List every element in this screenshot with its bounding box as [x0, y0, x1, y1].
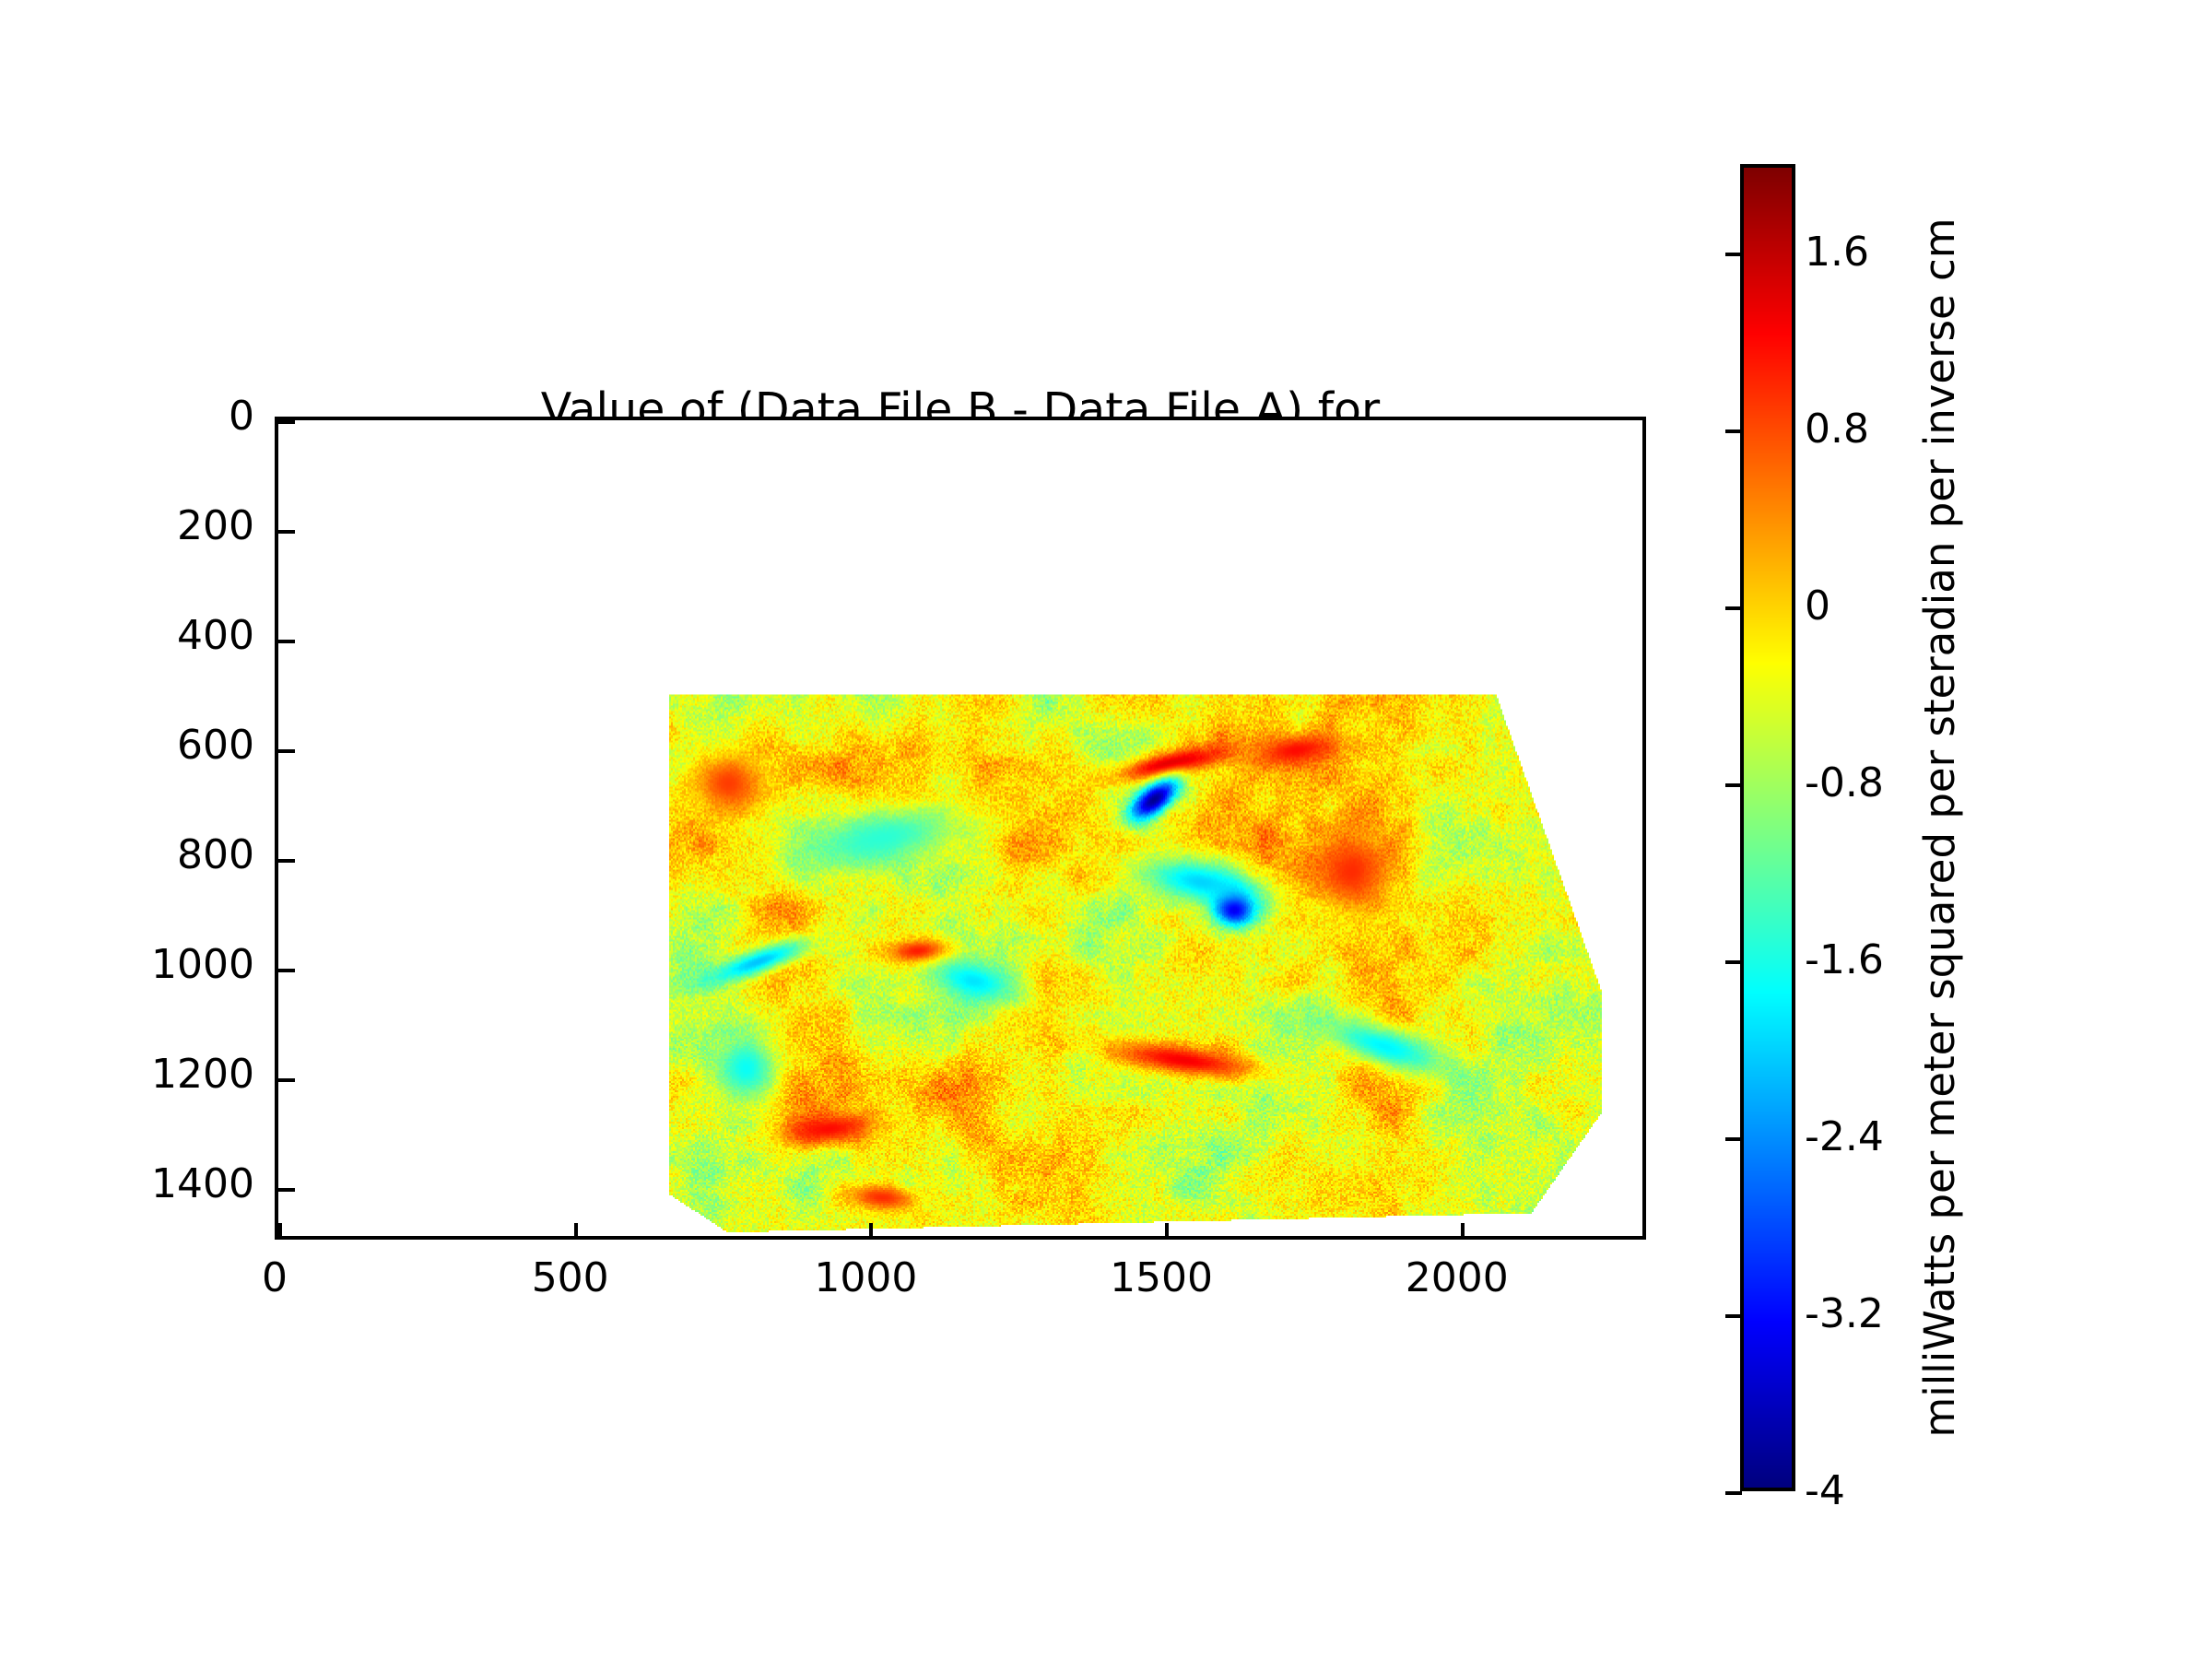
x-axis-tick: [574, 1223, 578, 1240]
x-axis-tick: [1165, 1223, 1169, 1240]
y-axis-tick-label: 0: [0, 396, 254, 437]
x-axis-tick-label: 2000: [1319, 1258, 1595, 1299]
colorbar-tick: [1725, 253, 1742, 256]
colorbar-tick-label: -2.4: [1805, 1117, 1884, 1158]
colorbar-tick: [1725, 1137, 1742, 1141]
y-axis-tick-label: 800: [0, 835, 254, 876]
colorbar-tick-label: 0: [1805, 586, 1830, 627]
x-axis-tick-label: 1000: [727, 1258, 1004, 1299]
y-axis-tick: [278, 969, 295, 972]
colorbar-tick-label: -0.8: [1805, 763, 1884, 804]
x-axis-tick-label: 1500: [1023, 1258, 1300, 1299]
y-axis-tick: [278, 859, 295, 863]
y-axis-tick: [278, 640, 295, 643]
x-axis-tick-label: 500: [432, 1258, 709, 1299]
colorbar-tick-label: 1.6: [1805, 232, 1869, 273]
x-axis-tick-label: 0: [136, 1258, 413, 1299]
colorbar-tick-label: 0.8: [1805, 409, 1869, 450]
y-axis-tick-label: 1000: [0, 945, 254, 985]
y-axis-tick: [278, 1078, 295, 1082]
colorbar-tick: [1725, 606, 1742, 610]
colorbar-ramp: [1744, 168, 1792, 1488]
y-axis-tick-label: 400: [0, 616, 254, 656]
colorbar-tick: [1725, 1314, 1742, 1318]
y-axis-tick-label: 1200: [0, 1054, 254, 1095]
colorbar-gradient: [1740, 164, 1795, 1491]
y-axis-tick: [278, 749, 295, 753]
colorbar-tick: [1725, 429, 1742, 433]
colorbar-tick-label: -1.6: [1805, 940, 1884, 981]
colorbar: 1.60.80-0.8-1.6-2.4-3.2-4: [1740, 164, 1795, 1491]
y-axis-tick: [278, 530, 295, 534]
y-axis-tick-label: 600: [0, 725, 254, 766]
colorbar-tick-label: -3.2: [1805, 1294, 1884, 1335]
y-axis-tick: [278, 420, 295, 424]
x-axis-tick: [1461, 1223, 1465, 1240]
plot-axes: [275, 417, 1646, 1240]
x-axis-tick: [869, 1223, 873, 1240]
figure-canvas: Value of (Data File B - Data File A) for…: [0, 0, 2212, 1659]
y-axis-tick-label: 200: [0, 506, 254, 547]
y-axis-tick-label: 1400: [0, 1164, 254, 1205]
colorbar-tick: [1725, 1491, 1742, 1495]
colorbar-tick: [1725, 960, 1742, 964]
colorbar-tick: [1725, 783, 1742, 787]
heatmap-image: [278, 420, 1646, 1240]
colorbar-axis-label: milliWatts per meter squared per steradi…: [1912, 164, 1968, 1491]
x-axis-tick: [278, 1223, 282, 1240]
y-axis-tick: [278, 1188, 295, 1192]
colorbar-tick-label: -4: [1805, 1471, 1845, 1512]
